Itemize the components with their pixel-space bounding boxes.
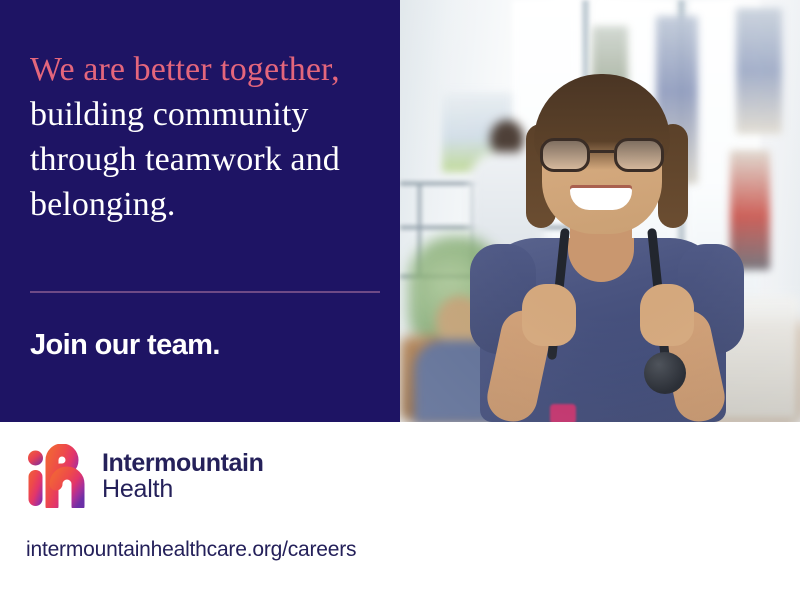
healthcare-worker-figure <box>458 52 754 422</box>
headline-line-2: building community <box>30 92 390 137</box>
advertisement-poster: We are better together, building communi… <box>0 0 800 600</box>
eyeglasses-icon <box>538 138 666 172</box>
intermountain-ih-monogram-icon <box>26 444 88 508</box>
call-to-action-text: Join our team. <box>30 329 220 362</box>
hand-left <box>522 284 576 346</box>
message-panel: We are better together, building communi… <box>0 0 400 422</box>
stethoscope-chestpiece <box>644 352 686 394</box>
brand-name-line-1: Intermountain <box>102 450 263 476</box>
careers-url[interactable]: intermountainhealthcare.org/careers <box>26 538 356 562</box>
divider-rule <box>30 291 380 293</box>
headline-line-1: We are better together, <box>30 47 390 92</box>
brand-logo: Intermountain Health <box>26 444 263 508</box>
hero-photo <box>400 0 800 422</box>
footer-band: Intermountain Health intermountainhealth… <box>0 422 800 600</box>
brand-wordmark: Intermountain Health <box>102 450 263 502</box>
badge-clip <box>550 404 576 422</box>
hand-right <box>640 284 694 346</box>
brand-name-line-2: Health <box>102 476 263 502</box>
hero-band: We are better together, building communi… <box>0 0 800 422</box>
headline: We are better together, building communi… <box>30 47 390 227</box>
headline-line-3: through teamwork and <box>30 137 390 182</box>
headline-line-4: belonging. <box>30 182 390 227</box>
smile <box>570 188 632 210</box>
